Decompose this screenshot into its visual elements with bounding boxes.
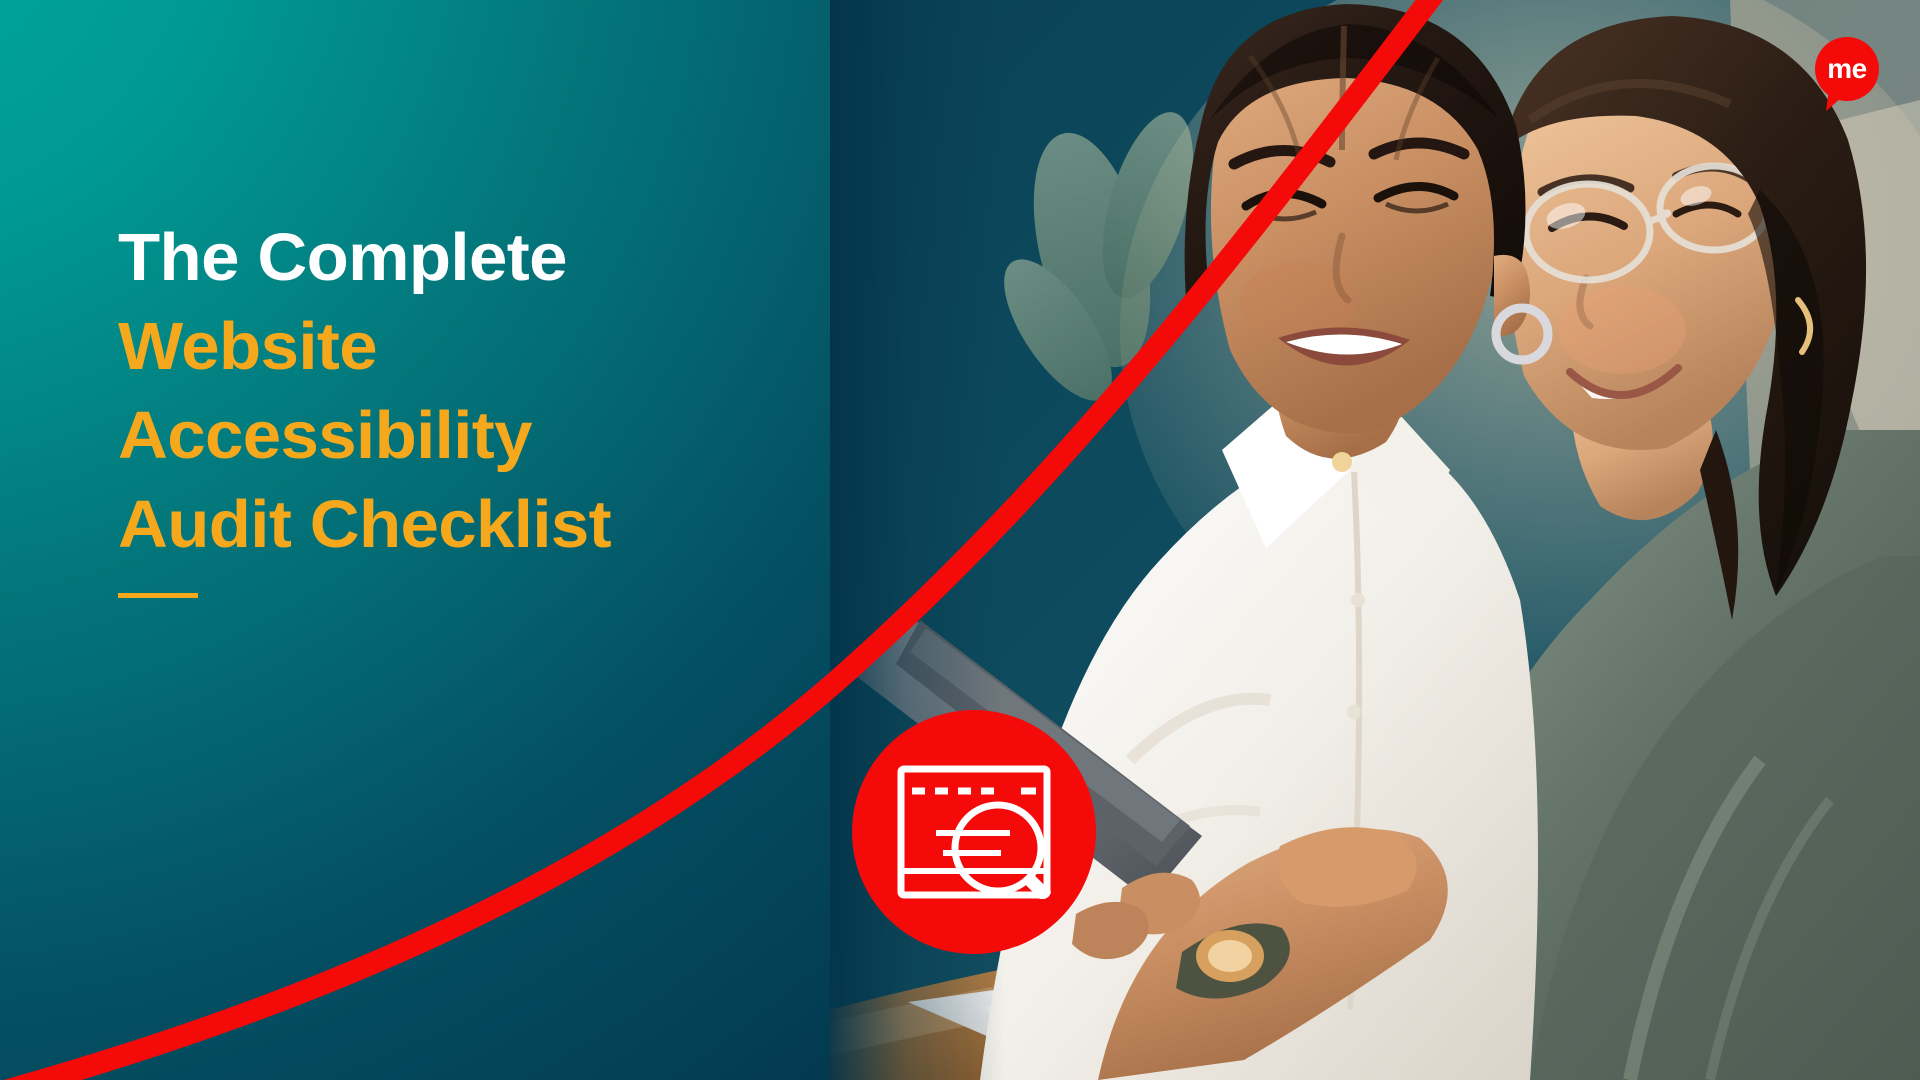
headline-line-2: Website [118, 302, 880, 391]
website-audit-magnifier-icon [852, 710, 1096, 954]
title-divider [118, 593, 198, 598]
accessibility-checklist-banner: The Complete Website Accessibility Audit… [0, 0, 1920, 1080]
me-logo-label: me [1811, 37, 1883, 101]
me-logo[interactable]: me [1811, 37, 1883, 113]
page-title: The Complete Website Accessibility Audit… [118, 213, 858, 598]
headline-line-4: Audit Checklist [118, 480, 880, 569]
headline-line-3: Accessibility [118, 391, 880, 480]
headline-line-1: The Complete [118, 213, 880, 302]
